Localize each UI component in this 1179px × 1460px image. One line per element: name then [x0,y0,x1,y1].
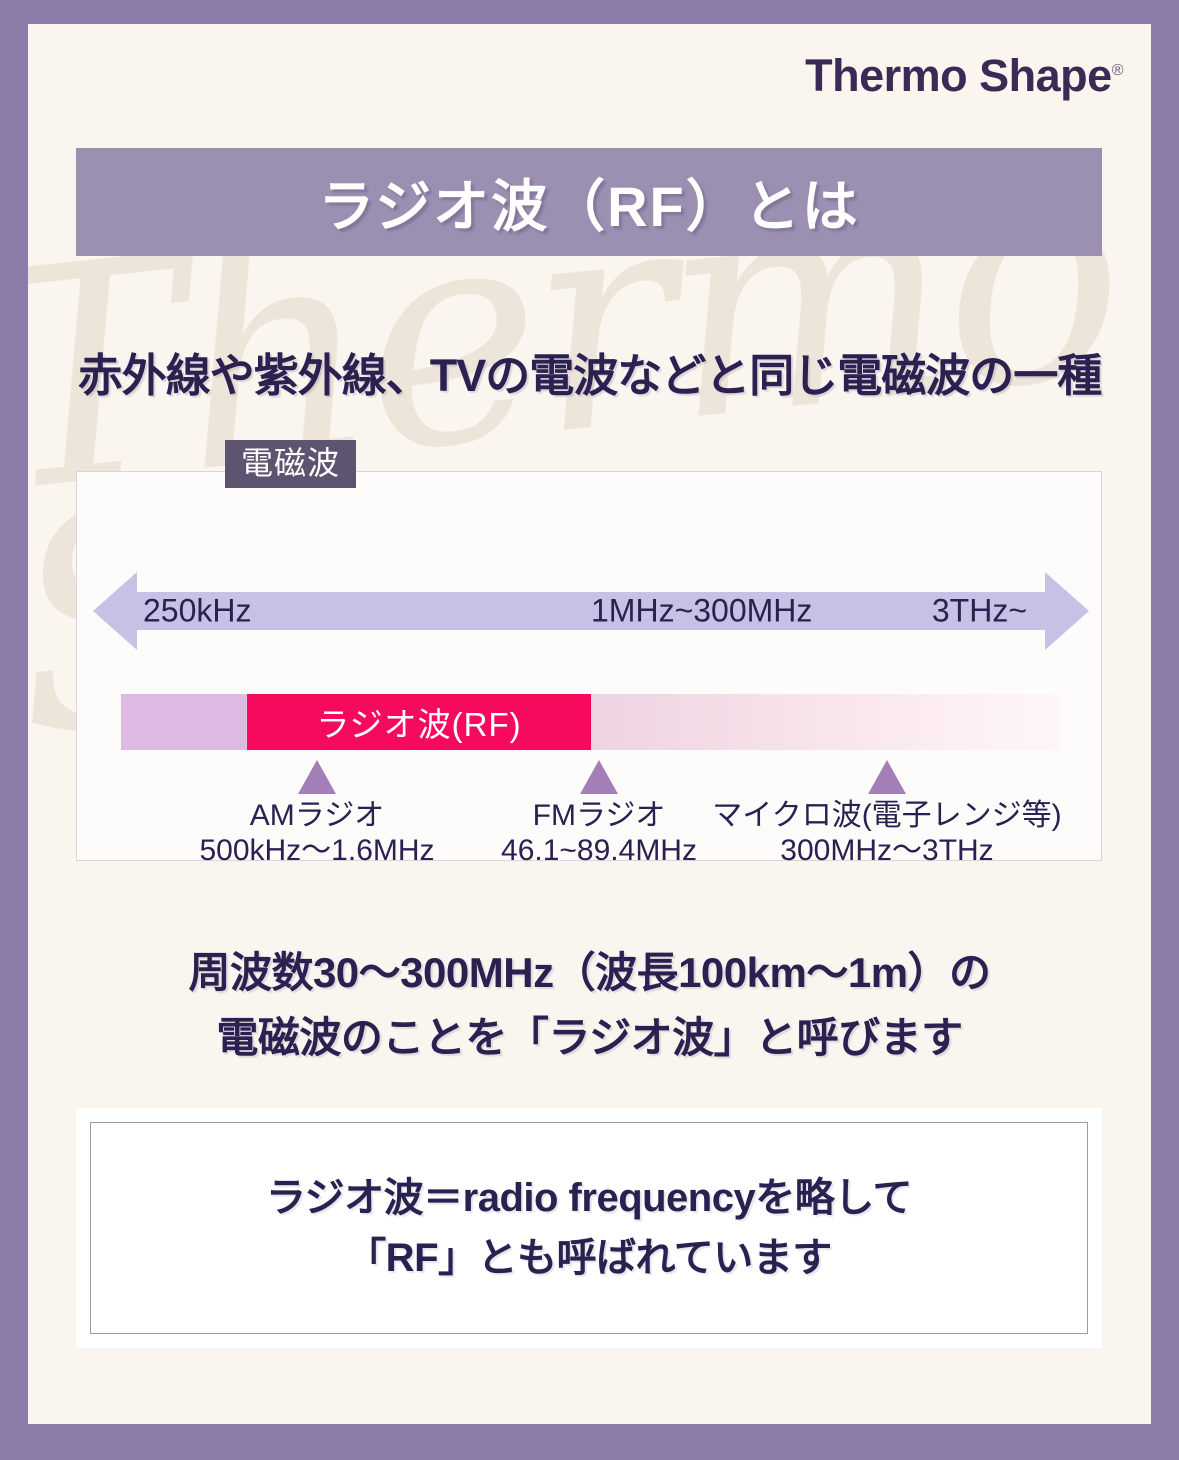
axis-label-low: 250kHz [143,593,252,630]
marker-range: 500kHz〜1.6MHz [157,833,477,868]
page-title: ラジオ波（RF）とは [318,162,860,243]
brand-name: Thermo Shape [805,50,1112,101]
brand-logo: Thermo Shape® [805,50,1123,102]
note-box-inner: ラジオ波＝radio frequencyを略して 「RF」とも呼ばれています [90,1122,1088,1334]
spectrum-bar: ラジオ波(RF) [121,694,1059,750]
body-line-1: 周波数30〜300MHz（波長100km〜1m）の [28,940,1151,1005]
note-line-2: 「RF」とも呼ばれています [346,1228,832,1288]
marker-am-radio: AMラジオ 500kHz〜1.6MHz [157,760,477,869]
note-box: ラジオ波＝radio frequencyを略して 「RF」とも呼ばれています [76,1108,1102,1348]
infographic-page: Thermo Shape Thermo Shape® ラジオ波（RF）とは 赤外… [0,0,1179,1460]
triangle-marker-icon [868,760,906,794]
body-line-2: 電磁波のことを「ラジオ波」と呼びます [28,1005,1151,1070]
spectrum-rf-label: ラジオ波(RF) [316,698,521,746]
marker-microwave: マイクロ波(電子レンジ等) 300MHz〜3THz [677,760,1097,869]
marker-name: AMラジオ [157,798,477,833]
subtitle-text: 赤外線や紫外線、TVの電波などと同じ電磁波の一種 [28,339,1151,404]
title-banner: ラジオ波（RF）とは [76,148,1102,256]
spectrum-rf-segment: ラジオ波(RF) [247,694,591,750]
marker-name: マイクロ波(電子レンジ等) [677,798,1097,833]
content-canvas: Thermo Shape Thermo Shape® ラジオ波（RF）とは 赤外… [28,24,1151,1424]
spectrum-markers: AMラジオ 500kHz〜1.6MHz FMラジオ 46.1~89.4MHz マ… [121,760,1059,856]
note-line-1: ラジオ波＝radio frequencyを略して [266,1168,912,1228]
frequency-axis-arrow: 250kHz 1MHz~300MHz 3THz~ [93,568,1089,654]
triangle-marker-icon [580,760,618,794]
marker-range: 300MHz〜3THz [677,833,1097,868]
axis-label-high: 3THz~ [932,593,1027,630]
body-copy: 周波数30〜300MHz（波長100km〜1m）の 電磁波のことを「ラジオ波」と… [28,940,1151,1070]
axis-label-mid: 1MHz~300MHz [591,593,812,630]
registered-mark-icon: ® [1112,62,1123,79]
spectrum-diagram: 電磁波 250kHz 1MHz~300MHz 3THz~ [76,471,1102,861]
triangle-marker-icon [298,760,336,794]
diagram-tag-label: 電磁波 [225,440,356,488]
